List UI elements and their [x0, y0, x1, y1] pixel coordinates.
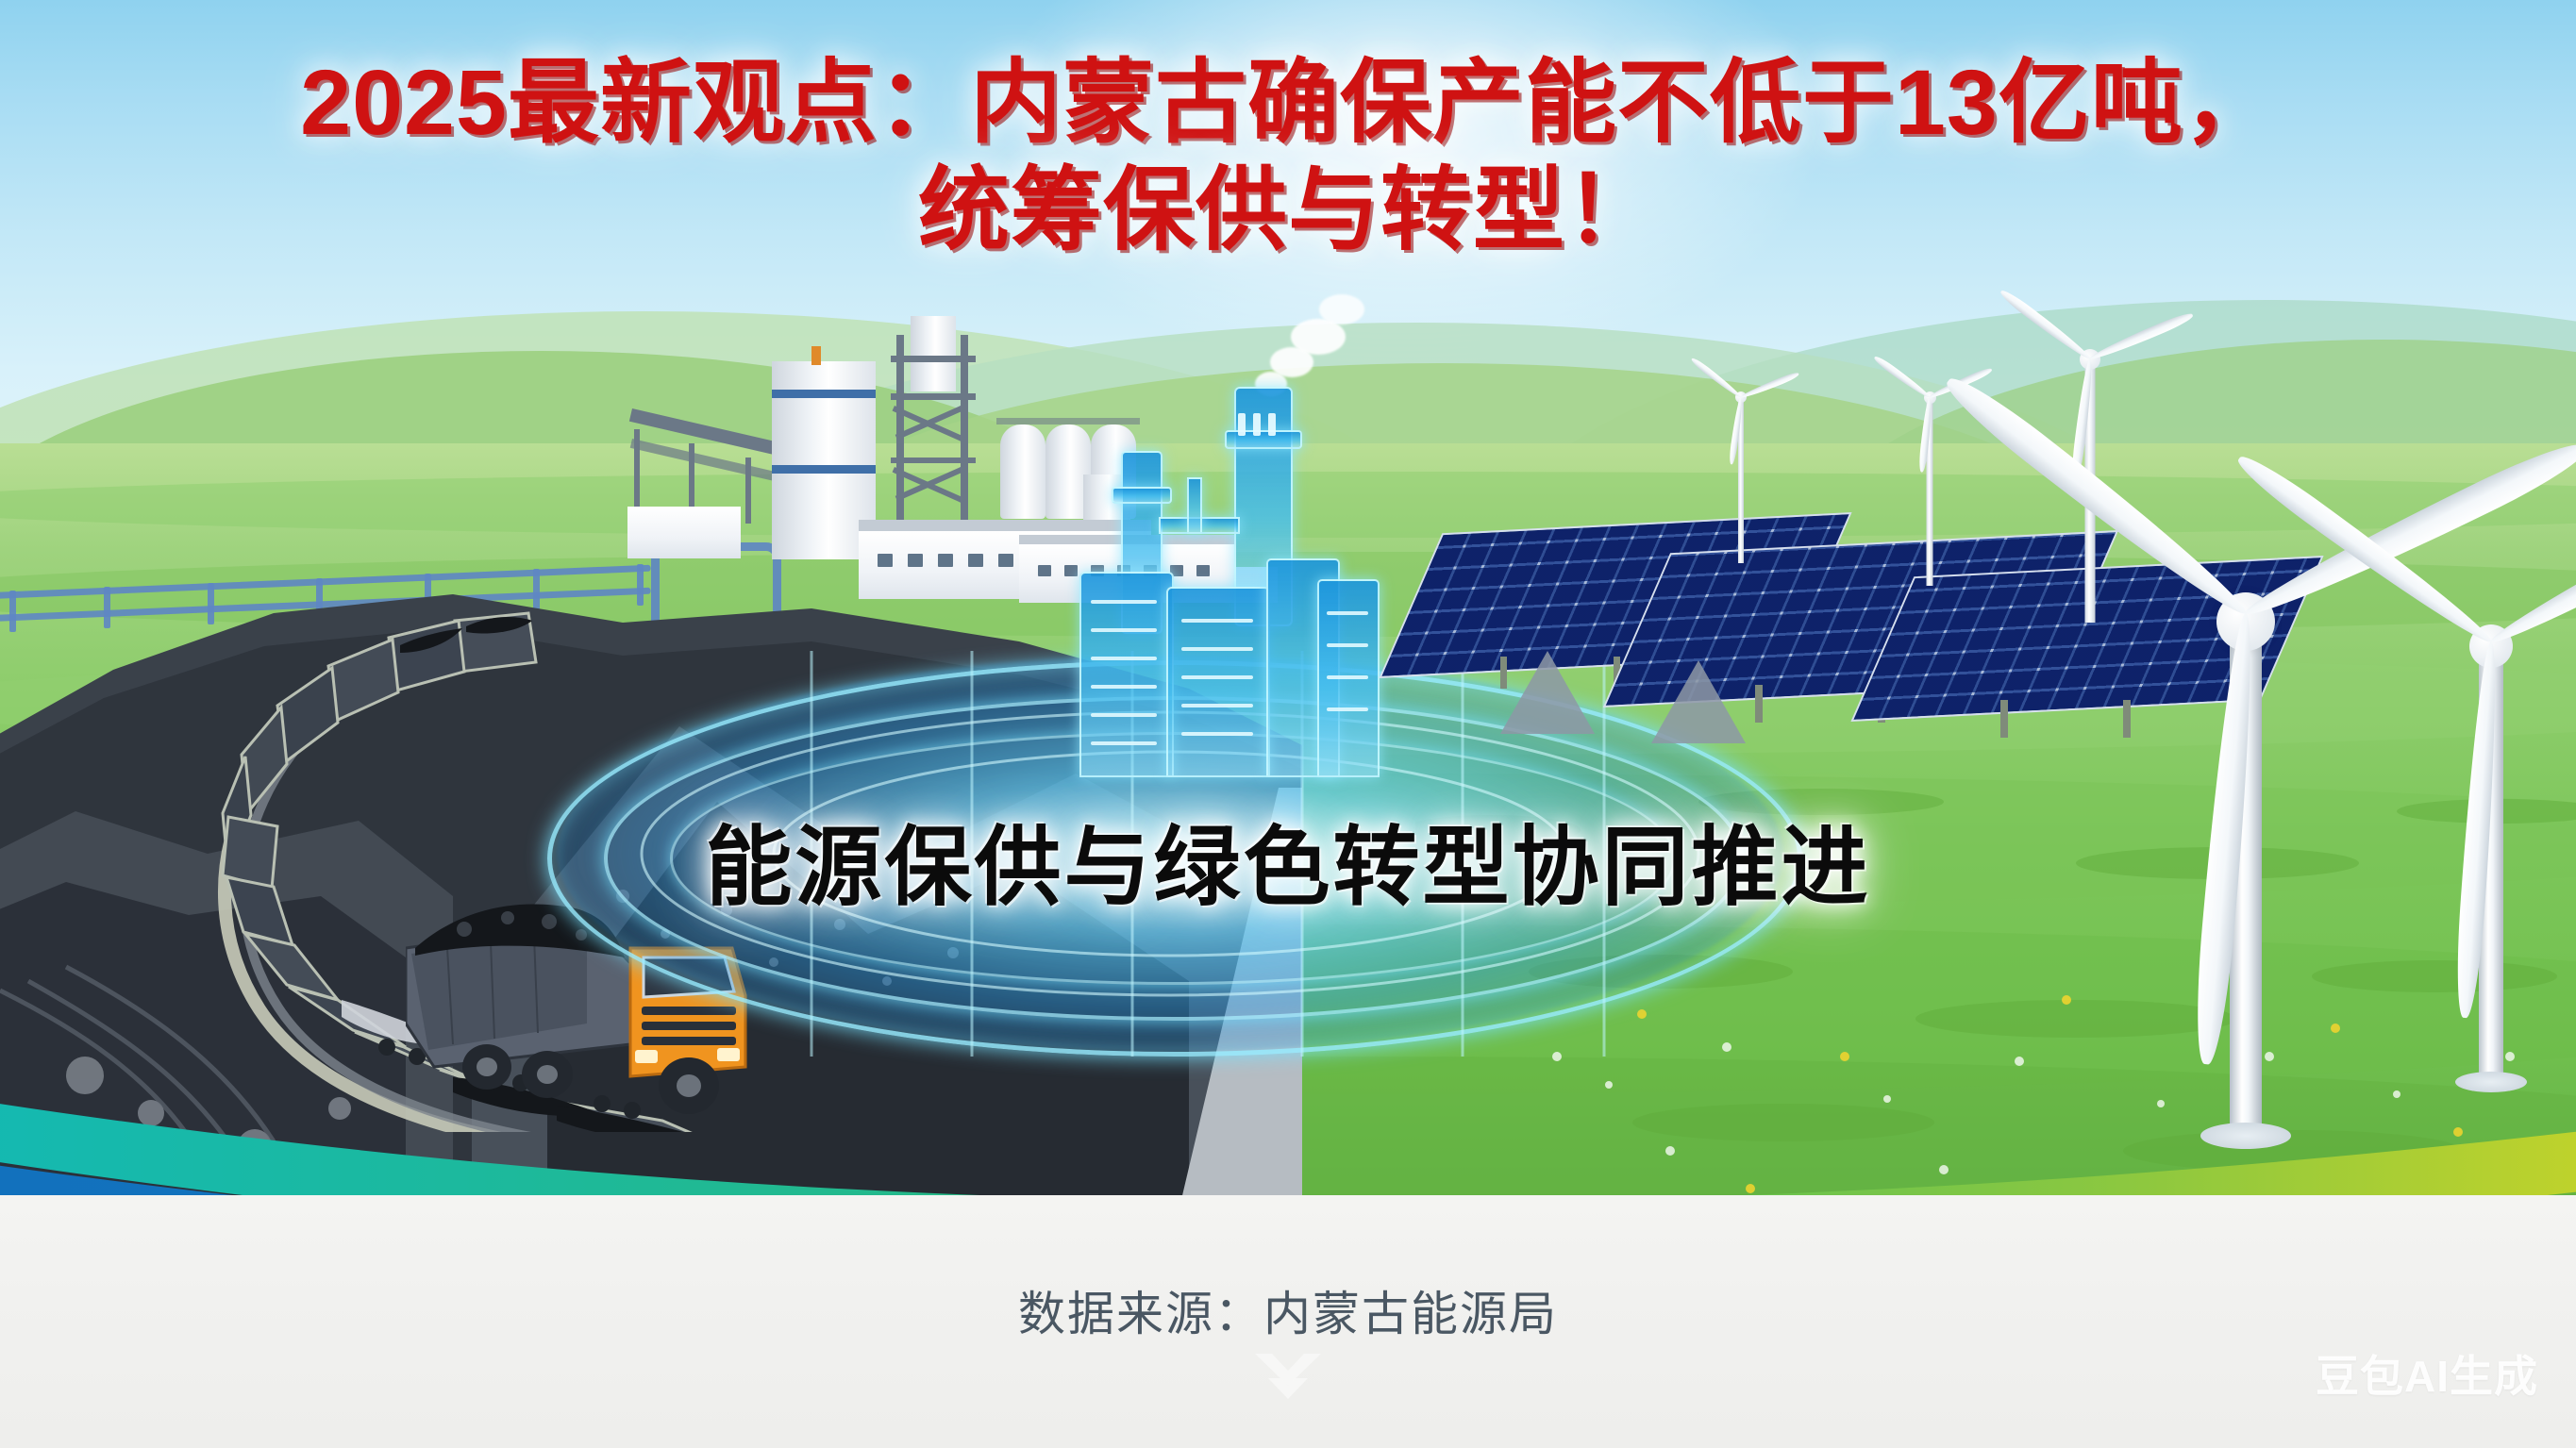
- center-headline: 能源保供与绿色转型协同推进: [0, 797, 2576, 923]
- footer-bar: 数据来源：内蒙古能源局 豆包AI生成: [0, 1195, 2576, 1448]
- page-title: 2025最新观点：内蒙古确保产能不低于13亿吨， 统筹保供与转型！: [0, 49, 2576, 265]
- wind-turbine-far: [1689, 373, 1793, 561]
- holo-stack-collar: [1225, 430, 1302, 449]
- steam-puff: [1319, 294, 1364, 325]
- title-line-1: 2025最新观点：内蒙古确保产能不低于13亿吨，: [300, 51, 2276, 154]
- data-source-note: 数据来源：内蒙古能源局: [0, 1276, 2576, 1344]
- ai-generated-watermark: 豆包AI生成: [2316, 1342, 2538, 1405]
- wind-turbine-right: [2302, 236, 2576, 1085]
- title-line-2: 统筹保供与转型！: [0, 157, 2576, 264]
- holo-tower: [1166, 587, 1270, 777]
- brand-watermark-logo: [1236, 1337, 1340, 1422]
- solar-panel-support: [1434, 632, 1906, 755]
- poster-root: 数据来源：内蒙古能源局 豆包AI生成 2025最新观点：内蒙古确保产能不低于13…: [0, 0, 2576, 1448]
